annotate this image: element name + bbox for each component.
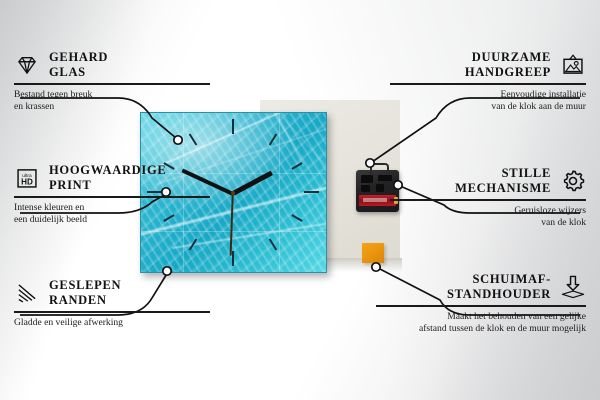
feature-duurzame-handgreep: DUURZAME HANDGREEP Eenvoudige installati… (390, 50, 586, 113)
feature-title-line: GLAS (49, 65, 108, 80)
feature-desc-line: en krassen (14, 101, 210, 113)
feature-rule (390, 199, 586, 201)
feature-title-line: GESLEPEN (49, 278, 121, 293)
feature-stille-mechanisme: STILLE MECHANISME Geruisloze wijzers van… (390, 166, 586, 229)
feature-desc-line: Gladde en veilige afwerking (14, 317, 210, 329)
second-hand (230, 194, 234, 256)
feature-desc-line: van de klok (390, 217, 586, 229)
feature-rule (14, 196, 210, 198)
feature-desc-line: Intense kleuren en (14, 202, 210, 214)
feature-title-line: HANDGREEP (465, 65, 551, 80)
diamond-icon (14, 52, 40, 78)
foam-spacer (362, 243, 384, 263)
feature-desc-line: Bestand tegen breuk (14, 89, 210, 101)
infographic-canvas: GEHARD GLAS Bestand tegen breuk en krass… (0, 0, 600, 400)
feature-desc-line: afstand tussen de klok en de muur mogeli… (376, 323, 586, 335)
feature-desc-line: Geruisloze wijzers (390, 205, 586, 217)
feature-title-line: RANDEN (49, 293, 121, 308)
feature-desc-line: een duidelijk beeld (14, 214, 210, 226)
feature-title-line: MECHANISME (455, 181, 551, 196)
feature-schuimafstandhouder: SCHUIMAF- STANDHOUDER Maakt het behouden… (376, 272, 586, 334)
feature-rule (14, 83, 210, 85)
press-down-pad-icon (560, 274, 586, 300)
feature-desc-line: Eenvoudige installatie (390, 89, 586, 101)
feature-title-line: SCHUIMAF- (447, 272, 551, 287)
feature-geslepen-randen: GESLEPEN RANDEN Gladde en veilige afwerk… (14, 278, 210, 329)
clock-hub (231, 191, 235, 195)
feature-title-line: DUURZAME (465, 50, 551, 65)
feature-desc-line: Maakt het behouden van een gelijke (376, 311, 586, 323)
feature-title-line: PRINT (49, 178, 166, 193)
feature-rule (14, 311, 210, 313)
feature-rule (376, 305, 586, 307)
svg-text:HD: HD (21, 178, 33, 187)
feature-rule (390, 83, 586, 85)
feature-gehard-glas: GEHARD GLAS Bestand tegen breuk en krass… (14, 50, 210, 113)
picture-frame-icon (560, 52, 586, 78)
feature-hoogwaardige-print: ultra HD HOOGWAARDIGE PRINT Intense kleu… (14, 163, 210, 226)
gear-icon (560, 168, 586, 194)
feature-title-line: STILLE (455, 166, 551, 181)
feature-title-line: HOOGWAARDIGE (49, 163, 166, 178)
ultra-hd-icon: ultra HD (14, 165, 40, 191)
feature-title-line: GEHARD (49, 50, 108, 65)
hour-hand (232, 171, 273, 196)
hanger-loop (370, 163, 389, 174)
diagonal-lines-icon (14, 280, 40, 306)
feature-desc-line: van de klok aan de muur (390, 101, 586, 113)
feature-title-line: STANDHOUDER (447, 287, 551, 302)
